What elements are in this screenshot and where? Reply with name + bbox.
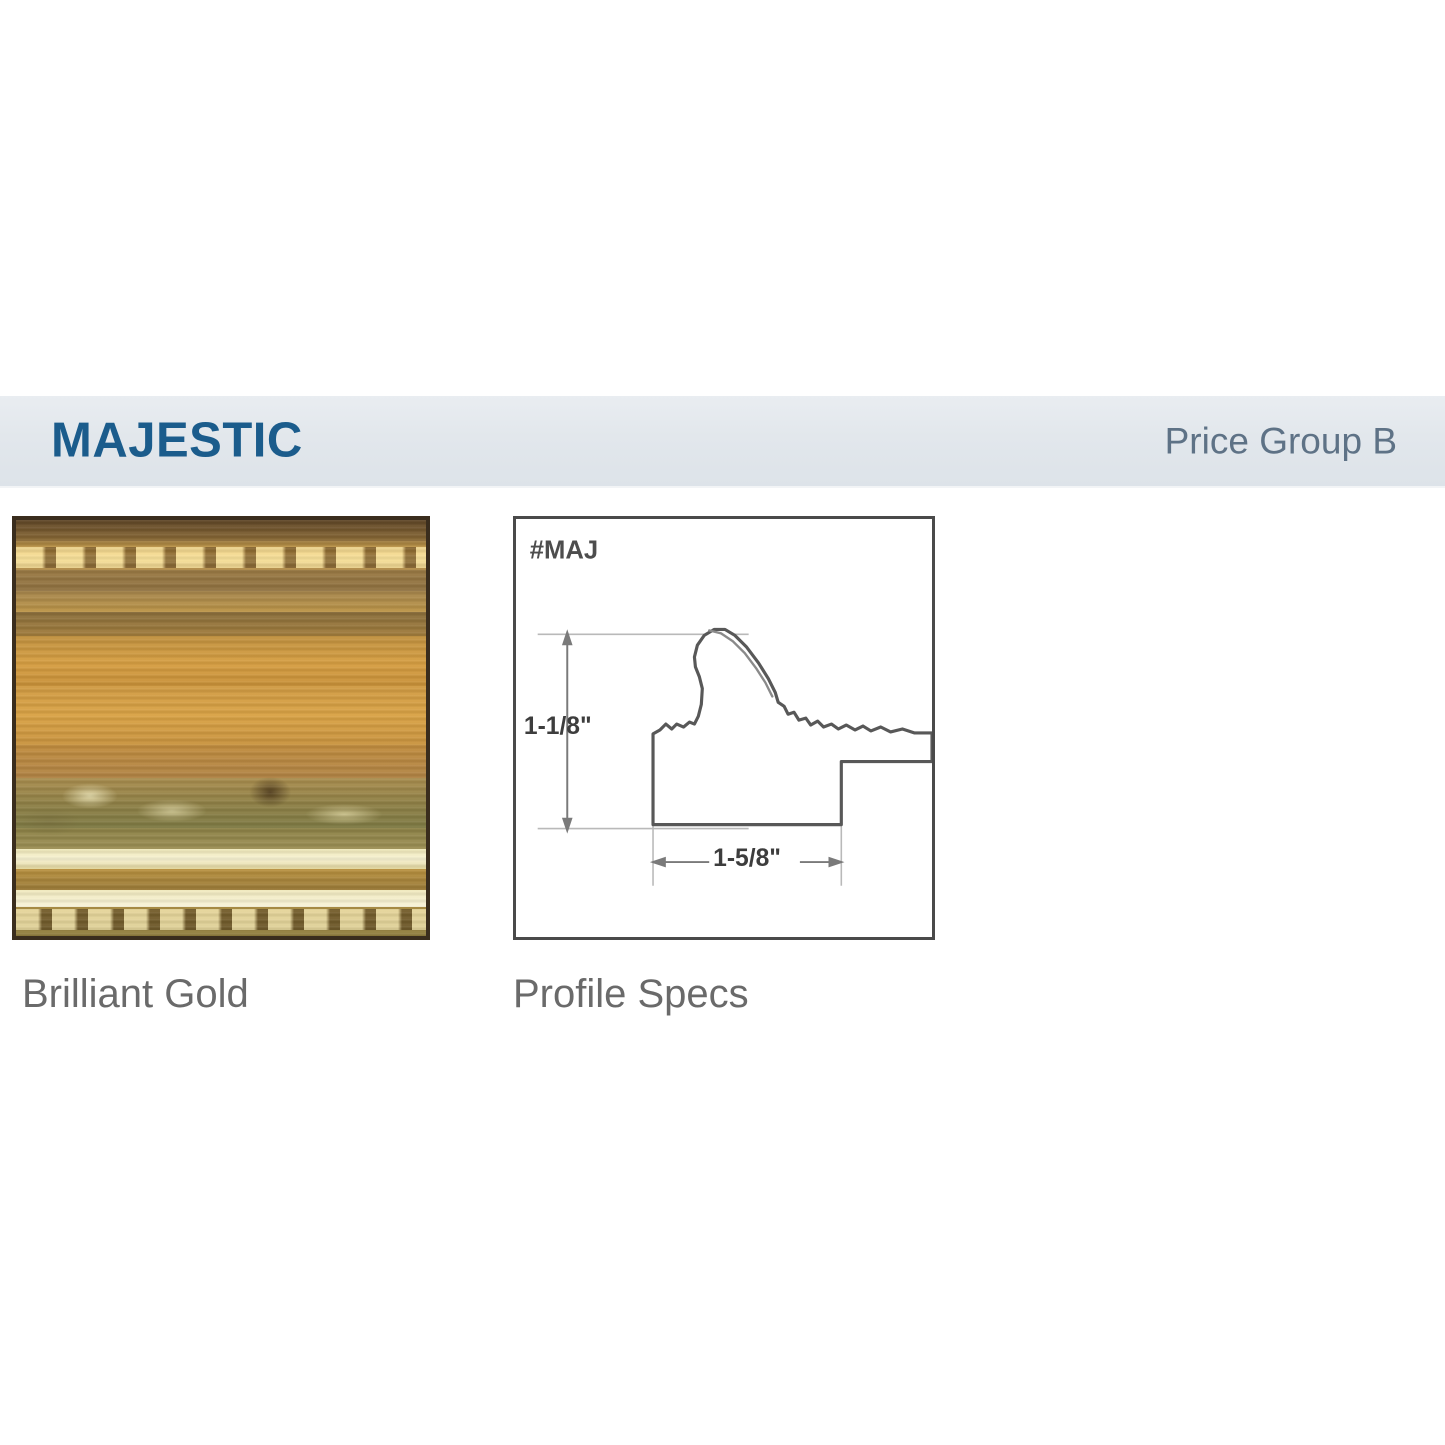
swatch-band xyxy=(16,591,426,612)
swatch-band xyxy=(16,636,426,686)
swatch-band xyxy=(16,686,426,744)
swatch-bead-ornament-top xyxy=(16,547,426,568)
finish-sample-image xyxy=(12,516,430,940)
profile-code-label: #MAJ xyxy=(530,536,598,564)
height-dimension-label: 1-1/8" xyxy=(524,713,592,740)
page-title: MAJESTIC xyxy=(51,417,303,466)
swatch-band xyxy=(16,570,426,591)
moulding-profile-outline xyxy=(653,629,932,824)
swatch-distressed-texture xyxy=(16,770,426,845)
width-dimension-label: 1-5/8" xyxy=(713,845,781,872)
swatch-band xyxy=(16,520,426,541)
swatch-bead-ornament-bottom xyxy=(16,909,426,930)
profile-specs-caption: Profile Specs xyxy=(513,974,749,1014)
product-header-banner: MAJESTIC Price Group B xyxy=(0,396,1445,488)
finish-sample-caption: Brilliant Gold xyxy=(22,974,249,1014)
swatch-band xyxy=(16,849,426,870)
profile-cross-section-drawing: #MAJ 1-1/8" 1-5/8" xyxy=(516,519,932,937)
profile-specs-diagram: #MAJ 1-1/8" 1-5/8" xyxy=(513,516,935,940)
swatch-band xyxy=(16,890,426,907)
swatch-band xyxy=(16,612,426,637)
price-group-badge: Price Group B xyxy=(1165,423,1397,460)
swatch-band xyxy=(16,869,426,890)
